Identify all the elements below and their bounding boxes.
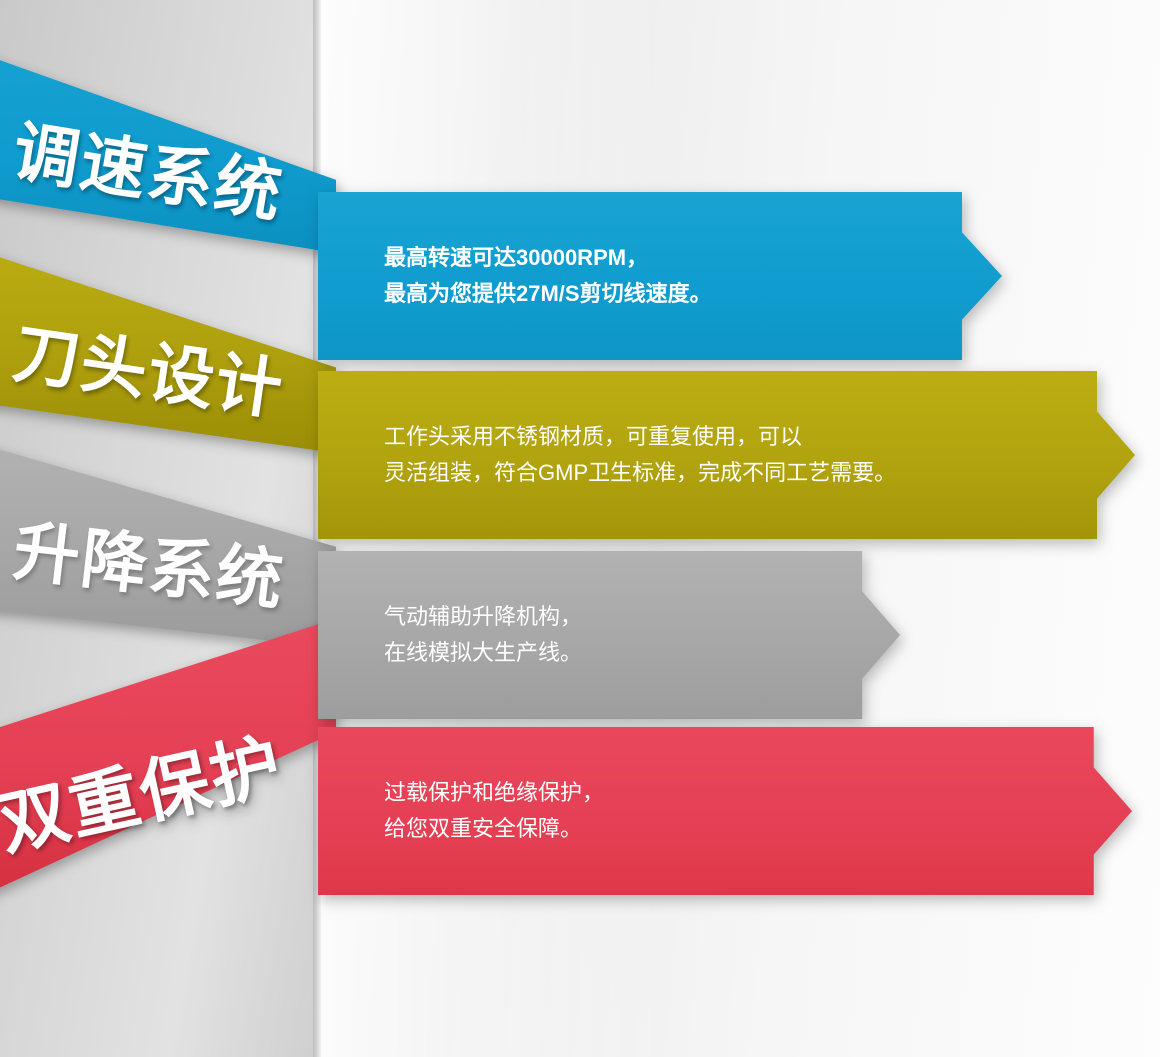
- banner-lift-system: 气动辅助升降机构， 在线模拟大生产线。: [318, 551, 900, 719]
- banner-speed-control: 最高转速可达30000RPM， 最高为您提供27M/S剪切线速度。: [318, 192, 1002, 360]
- banner-copy-blade-head-design: 工作头采用不锈钢材质，可重复使用，可以 灵活组装，符合GMP卫生标准，完成不同工…: [318, 419, 896, 490]
- banner-copy-dual-protection: 过载保护和绝缘保护， 给您双重安全保障。: [318, 775, 604, 846]
- banner-line: 工作头采用不锈钢材质，可重复使用，可以: [384, 419, 896, 455]
- banner-line: 过载保护和绝缘保护，: [384, 775, 604, 811]
- banner-line: 最高为您提供27M/S剪切线速度。: [384, 276, 712, 312]
- banner-copy-lift-system: 气动辅助升降机构， 在线模拟大生产线。: [318, 599, 582, 670]
- infographic-canvas: 调速系统 刀头设计 升降系统 双重保护 最高转速可达30000RPM， 最高为您…: [0, 0, 1160, 1057]
- banner-line: 给您双重安全保障。: [384, 811, 604, 847]
- banner-line: 气动辅助升降机构，: [384, 599, 582, 635]
- banner-line: 在线模拟大生产线。: [384, 635, 582, 671]
- banner-line: 灵活组装，符合GMP卫生标准，完成不同工艺需要。: [384, 455, 896, 491]
- banner-line: 最高转速可达30000RPM，: [384, 240, 712, 276]
- banner-blade-head-design: 工作头采用不锈钢材质，可重复使用，可以 灵活组装，符合GMP卫生标准，完成不同工…: [318, 371, 1135, 539]
- ribbon-tab-speed-control: 调速系统: [0, 38, 336, 253]
- banner-dual-protection: 过载保护和绝缘保护， 给您双重安全保障。: [318, 727, 1132, 895]
- banner-copy-speed-control: 最高转速可达30000RPM， 最高为您提供27M/S剪切线速度。: [318, 240, 712, 311]
- ribbon-tab-dual-protection: 双重保护: [0, 604, 336, 894]
